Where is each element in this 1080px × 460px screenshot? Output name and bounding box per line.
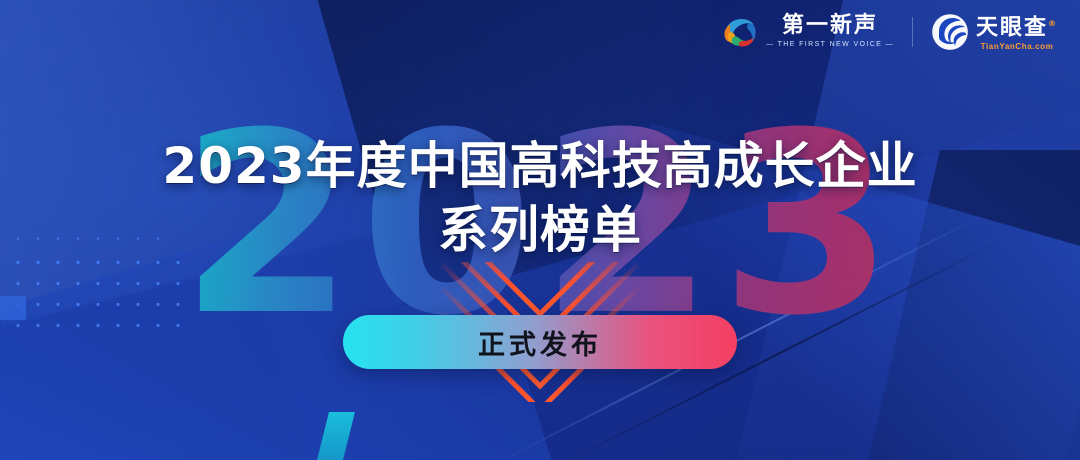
logo-diyixinsheng-cn: 第一新声 [782, 14, 878, 38]
logo-bar: 第一新声 — THE FIRST NEW VOICE — 天眼查® TianYa… [721, 12, 1058, 52]
poster-canvas: 2023 2023年度中国高科技高成长企业 系列榜单 [0, 0, 1080, 460]
logo-tianyancha-trademark: ® [1048, 19, 1058, 28]
release-status-label: 正式发布 [478, 323, 602, 362]
square-accent [0, 296, 26, 320]
page-title-line-2: 系列榜单 [0, 200, 1080, 260]
logo-diyixinsheng[interactable]: 第一新声 — THE FIRST NEW VOICE — [721, 13, 894, 51]
swirl-logo-icon [721, 13, 759, 51]
release-status-badge[interactable]: 正式发布 [343, 315, 737, 369]
eye-lens-logo-icon [931, 13, 969, 51]
logo-tianyancha-cn: 天眼查 [976, 15, 1048, 40]
logo-tianyancha-cn-wrap: 天眼查® [976, 12, 1058, 40]
logo-tianyancha-en: TianYanCha.com [981, 42, 1054, 52]
logo-tianyancha[interactable]: 天眼查® TianYanCha.com [931, 12, 1058, 52]
logo-diyixinsheng-en: — THE FIRST NEW VOICE — [766, 40, 894, 50]
dot-grid-accent [8, 252, 188, 332]
title-block: 2023年度中国高科技高成长企业 系列榜单 [0, 136, 1080, 260]
page-title-line-1: 2023年度中国高科技高成长企业 [0, 136, 1080, 196]
logo-diyixinsheng-text: 第一新声 — THE FIRST NEW VOICE — [766, 14, 894, 50]
logo-divider [912, 17, 913, 47]
logo-tianyancha-text: 天眼查® TianYanCha.com [976, 12, 1058, 52]
